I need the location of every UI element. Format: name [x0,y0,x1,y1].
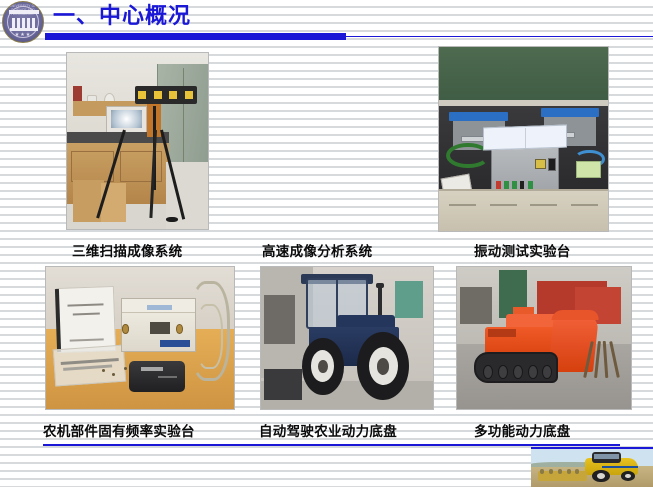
accessory-bag [576,161,601,178]
page-title: 一、中心概况 [53,4,191,30]
open-document [483,124,567,150]
blue-lid-right [541,108,600,117]
frequency-analyser [121,298,196,352]
rear-wheel-hub [377,358,389,374]
caption-three-dimensional-scanning-imaging-system: 三维扫描成像系统 [72,240,182,260]
caption-vibration-test-bench: 振动测试实验台 [474,240,571,260]
cabinet-drawers [439,189,608,231]
title-underline-thick [45,33,346,40]
harvester-cab [592,452,621,463]
harvester-stripe [602,466,639,469]
sensor-rods-bag [52,344,126,386]
tractor-rear-wheel [357,332,409,400]
instruction-manual [56,286,117,353]
analyser-knob-c [122,324,129,333]
scanner-head [135,86,197,104]
caption-multi-function-power-chassis: 多功能动力底盘 [474,420,571,440]
presentation-slide: UNIVERSITY OF SCIENCE AND TECHNOLOGY ★★★… [0,0,653,487]
digital-display [548,158,557,172]
analyser-port-block [150,322,170,333]
photo-multi-function-power-chassis[interactable] [456,266,632,410]
photo-natural-frequency-test-bench[interactable] [45,266,235,410]
black-carry-case [129,361,185,392]
track-roller-4 [528,365,538,380]
tiller-tines [586,341,624,378]
case-logo [141,367,162,371]
photo-combine-harvester-thumbnail[interactable] [531,447,653,487]
caption-high-speed-imaging-analysis-system: 高速成像分析系统 [262,240,372,260]
slide-header: UNIVERSITY OF SCIENCE AND TECHNOLOGY ★★★… [0,0,653,48]
blue-lid-left [449,112,508,121]
track-roller-1 [483,365,493,380]
front-wheel-hub [318,360,328,374]
emblem-gate-base [10,28,38,31]
crawler-track [474,352,558,383]
manual-spine [55,289,61,352]
photo-vibration-test-bench[interactable] [438,46,609,232]
label-plate-left [461,136,484,142]
harvester-header-reel [538,471,587,481]
analyser-knob-a [176,324,183,333]
emblem-gate-columns [12,13,36,28]
floor-frame [264,369,302,400]
case-text [158,376,177,378]
sensor-rod-a [60,357,118,364]
harvester-rear-wheel [621,471,634,481]
manual-footer-line [70,338,104,341]
green-machine-behind [395,281,423,318]
chassis-grille [488,329,516,336]
manual-subtitle-line [73,313,100,316]
caption-natural-frequency-test-bench: 农机部件固有频率实验台 [43,420,195,440]
tractor-front-wheel [302,338,343,395]
caption-autonomous-agricultural-power-chassis: 自动驾驶农业动力底盘 [259,420,397,440]
university-emblem-icon: UNIVERSITY OF SCIENCE AND TECHNOLOGY ★★★ [2,1,44,43]
track-roller-5 [542,365,552,380]
track-roller-2 [498,365,508,380]
analyser-maker-badge [160,340,189,347]
green-chalkboard [439,47,608,104]
analog-meter [535,159,546,170]
background-machine-dark [460,287,491,324]
analyser-brand-label [147,305,172,309]
photo-autonomous-agricultural-power-chassis[interactable] [260,266,434,410]
tripod-foot [166,217,179,222]
footer-divider [43,444,620,446]
wall-equipment [264,295,295,343]
emblem-stars: ★★★ [3,32,43,38]
cable-bundle-inner [196,304,222,369]
photo-three-dimensional-scanning-imaging-system[interactable] [66,52,209,230]
track-roller-3 [513,365,523,380]
manual-title-line [68,304,104,307]
